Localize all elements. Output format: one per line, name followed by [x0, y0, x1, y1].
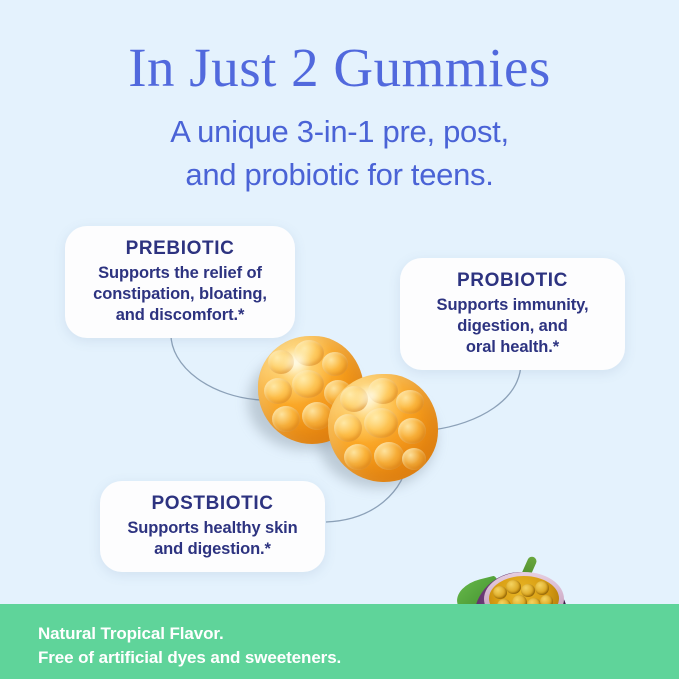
card-probiotic[interactable]: PROBIOTIC Supports immunity, digestion, … — [400, 258, 625, 370]
card-probiotic-line-3: oral health.* — [414, 337, 611, 358]
card-postbiotic-line-2: and digestion.* — [114, 539, 311, 560]
card-prebiotic-body: Supports the relief of constipation, blo… — [79, 263, 281, 326]
subtitle-line-2: and probiotic for teens. — [0, 153, 679, 196]
card-probiotic-line-1: Supports immunity, — [414, 295, 611, 316]
card-prebiotic-title: PREBIOTIC — [79, 237, 281, 261]
card-prebiotic-line-3: and discomfort.* — [79, 305, 281, 326]
banner-line-1: Natural Tropical Flavor. — [38, 622, 341, 646]
banner-line-2: Free of artificial dyes and sweeteners. — [38, 646, 341, 670]
card-prebiotic[interactable]: PREBIOTIC Supports the relief of constip… — [65, 226, 295, 338]
product-benefit-poster: In Just 2 Gummies A unique 3-in-1 pre, p… — [0, 0, 679, 679]
card-postbiotic-title: POSTBIOTIC — [114, 492, 311, 516]
orange-gummy-front — [328, 374, 438, 482]
card-probiotic-body: Supports immunity, digestion, and oral h… — [414, 295, 611, 358]
card-prebiotic-line-2: constipation, bloating, — [79, 284, 281, 305]
page-title: In Just 2 Gummies — [0, 38, 679, 98]
card-postbiotic-body: Supports healthy skin and digestion.* — [114, 518, 311, 560]
card-probiotic-title: PROBIOTIC — [414, 269, 611, 293]
card-postbiotic[interactable]: POSTBIOTIC Supports healthy skin and dig… — [100, 481, 325, 572]
card-postbiotic-line-1: Supports healthy skin — [114, 518, 311, 539]
card-probiotic-line-2: digestion, and — [414, 316, 611, 337]
subtitle-line-1: A unique 3-in-1 pre, post, — [0, 110, 679, 153]
page-subtitle: A unique 3-in-1 pre, post, and probiotic… — [0, 110, 679, 196]
bottom-banner: Natural Tropical Flavor. Free of artific… — [0, 604, 679, 679]
card-prebiotic-line-1: Supports the relief of — [79, 263, 281, 284]
bottom-banner-text: Natural Tropical Flavor. Free of artific… — [38, 622, 341, 670]
